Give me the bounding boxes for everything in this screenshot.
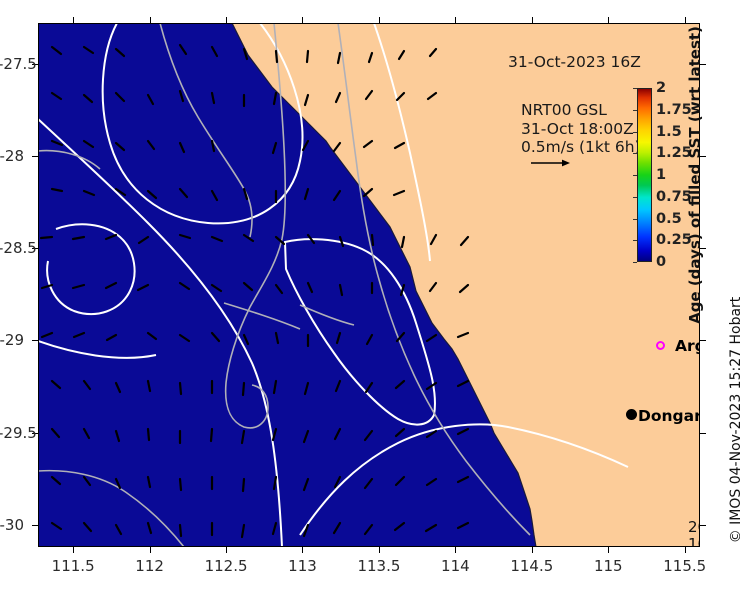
- colorbar-tick: [633, 262, 637, 263]
- x-tick: [73, 547, 74, 553]
- x-tick-top: [379, 17, 380, 23]
- x-tick-label: 114.5: [510, 557, 553, 575]
- y-tick-label: -27.5: [0, 55, 24, 73]
- depth-200m-label: 200m: [688, 519, 700, 536]
- x-tick-top: [226, 17, 227, 23]
- x-tick-label: 113.5: [357, 557, 400, 575]
- colorbar-tick-label: 1: [656, 167, 666, 183]
- colorbar-tick-label: 0: [656, 254, 666, 270]
- y-tick-right: [700, 433, 706, 434]
- y-tick: [32, 340, 38, 341]
- colorbar-title: Age (days) of filled SST (wrt latest): [686, 26, 704, 324]
- product-time: 31-Oct 18:00Z: [521, 120, 641, 139]
- colorbar-tick: [633, 153, 637, 154]
- colorbar-tick: [633, 219, 637, 220]
- y-tick-right: [700, 340, 706, 341]
- colorbar-tick: [633, 88, 637, 89]
- colorbar-tick: [633, 132, 637, 133]
- x-tick: [532, 547, 533, 553]
- depth-1000m-label: 1000m: [688, 536, 700, 547]
- colorbar-tick: [633, 240, 637, 241]
- colorbar-tick: [633, 197, 637, 198]
- map-plot-area[interactable]: 31-Oct-2023 16Z NRT00 GSL 31-Oct 18:00Z …: [38, 23, 700, 547]
- x-tick-top: [302, 17, 303, 23]
- product-info-block: NRT00 GSL 31-Oct 18:00Z 0.5m/s (1kt 6h): [521, 101, 641, 157]
- colorbar-gradient[interactable]: [637, 88, 652, 262]
- y-tick: [32, 156, 38, 157]
- colorbar-tick-label: 2: [656, 80, 666, 96]
- x-tick: [455, 547, 456, 553]
- y-tick-right: [700, 525, 706, 526]
- y-tick: [32, 525, 38, 526]
- colorbar-tick: [633, 175, 637, 176]
- x-tick: [302, 547, 303, 553]
- x-tick-top: [150, 17, 151, 23]
- x-tick-top: [532, 17, 533, 23]
- x-tick-top: [455, 17, 456, 23]
- colorbar-tick: [633, 110, 637, 111]
- colorbar-tick-label: 1.5: [656, 124, 682, 140]
- x-tick: [150, 547, 151, 553]
- x-tick-label: 112.5: [205, 557, 248, 575]
- x-tick-label: 113: [288, 557, 317, 575]
- x-tick-label: 115.5: [663, 557, 706, 575]
- x-tick: [226, 547, 227, 553]
- x-tick-label: 112: [135, 557, 164, 575]
- map-figure: 31-Oct-2023 16Z NRT00 GSL 31-Oct 18:00Z …: [0, 0, 740, 592]
- timestamp-label: 31-Oct-2023 16Z: [508, 53, 641, 71]
- x-tick-top: [608, 17, 609, 23]
- x-tick-label: 115: [594, 557, 623, 575]
- colorbar-tick-label: 0.5: [656, 211, 682, 227]
- x-tick: [685, 547, 686, 553]
- product-name: NRT00 GSL: [521, 101, 641, 120]
- copyright-label: © IMOS 04-Nov-2023 15:27 Hobart: [728, 297, 740, 544]
- argo-marker-icon[interactable]: [656, 341, 665, 350]
- dongara-marker-icon[interactable]: [626, 409, 637, 420]
- x-tick: [608, 547, 609, 553]
- y-tick-label: -29: [0, 331, 24, 349]
- argo-label: Argo: [675, 337, 700, 355]
- x-tick-top: [685, 17, 686, 23]
- reference-arrow-icon: [530, 157, 570, 169]
- x-tick-label: 114: [441, 557, 470, 575]
- y-tick-label: -28.5: [0, 239, 24, 257]
- x-tick-label: 111.5: [52, 557, 95, 575]
- y-tick-label: -30: [0, 516, 24, 534]
- y-tick-label: -28: [0, 147, 24, 165]
- depth-scale-legend: 200m 1000m: [688, 519, 700, 547]
- x-tick: [379, 547, 380, 553]
- x-tick-top: [73, 17, 74, 23]
- y-tick-label: -29.5: [0, 424, 24, 442]
- dongara-label: Dongara: [638, 407, 700, 425]
- product-scale: 0.5m/s (1kt 6h): [521, 138, 641, 157]
